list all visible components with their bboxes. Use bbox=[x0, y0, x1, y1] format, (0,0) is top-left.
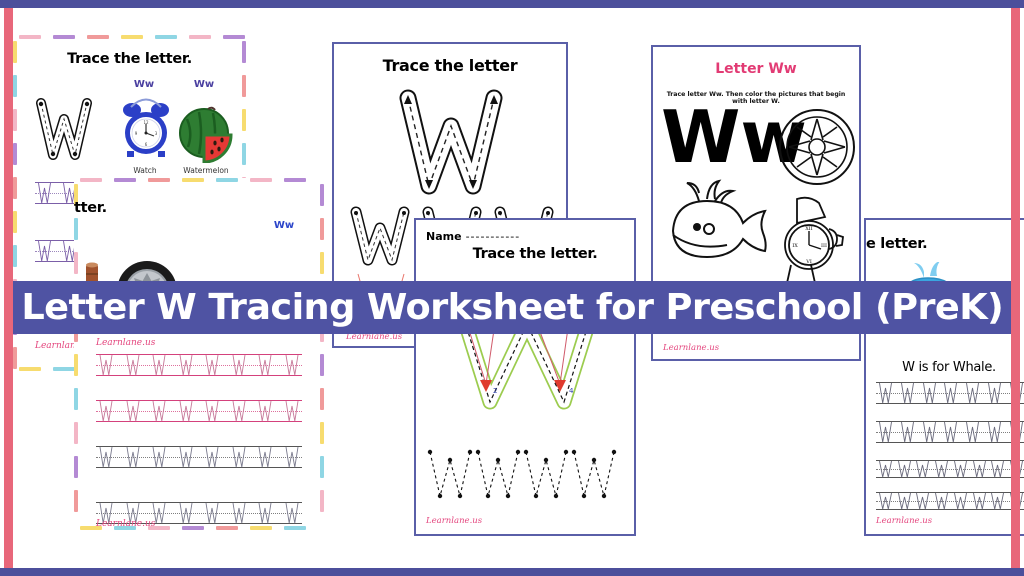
border-dash-segment bbox=[87, 35, 109, 39]
svg-text:6: 6 bbox=[145, 142, 148, 147]
border-dash-segment bbox=[13, 347, 17, 369]
border-dash-segment bbox=[13, 109, 17, 131]
border-dash-segment bbox=[189, 35, 211, 39]
border-dash-segment bbox=[242, 41, 246, 63]
border-dash-segment bbox=[242, 143, 246, 165]
border-dash-segment bbox=[284, 526, 306, 530]
frame-bar-left bbox=[4, 0, 13, 576]
worksheet-1-letter-label-1: Ww bbox=[121, 79, 167, 90]
border-dash-segment bbox=[13, 211, 17, 233]
border-dash-segment bbox=[13, 75, 17, 97]
border-dash-segment bbox=[320, 456, 324, 478]
border-dash-segment bbox=[250, 526, 272, 530]
tracing-row[interactable] bbox=[876, 460, 1024, 478]
border-dash-segment bbox=[155, 35, 177, 39]
name-field-label: Name bbox=[426, 230, 462, 243]
border-dash-segment bbox=[53, 35, 75, 39]
border-dash-segment bbox=[250, 178, 272, 182]
title-banner: Letter W Tracing Worksheet for Preschool… bbox=[13, 281, 1011, 334]
border-dash-segment bbox=[74, 422, 78, 444]
poster-canvas: Trace the letter. Ww Ww 123 bbox=[0, 0, 1024, 576]
border-dash-segment bbox=[320, 354, 324, 376]
border-dash-segment bbox=[148, 178, 170, 182]
worksheet-1-letter-label-2: Ww bbox=[181, 79, 227, 90]
border-dash-segment bbox=[74, 252, 78, 274]
border-dash-segment bbox=[182, 526, 204, 530]
worksheet-1-caption-2: Watermelon bbox=[173, 166, 239, 175]
page-title: Letter W Tracing Worksheet for Preschool… bbox=[21, 287, 1003, 328]
border-dash-segment bbox=[74, 354, 78, 376]
worksheet-2-letter-label-1: Ww bbox=[264, 220, 304, 231]
brand-watermark: Learnlane.us bbox=[426, 516, 482, 526]
worksheet-2-title: tter. bbox=[74, 200, 134, 216]
brand-watermark-ws2-bottom: Learnlane.us bbox=[96, 519, 155, 529]
svg-text:IX: IX bbox=[792, 243, 798, 249]
border-dash-segment bbox=[242, 109, 246, 131]
border-dash-segment bbox=[121, 35, 143, 39]
wheel-outline-icon[interactable] bbox=[777, 107, 857, 187]
worksheet-1-title: Trace the letter. bbox=[21, 51, 238, 67]
svg-text:III: III bbox=[821, 243, 827, 249]
frame-bar-right bbox=[1011, 0, 1020, 576]
border-dash-segment bbox=[114, 178, 136, 182]
traceable-letter-w-outline bbox=[35, 97, 93, 163]
worksheet-card-2[interactable]: tter. Ww Learnlane.us bbox=[74, 178, 324, 530]
worksheet-5-big-letter: Ww bbox=[661, 101, 775, 173]
worksheet-5-title: Letter Ww bbox=[657, 61, 855, 77]
border-dash-segment bbox=[182, 178, 204, 182]
frame-bar-top bbox=[0, 0, 1024, 8]
border-dash-segment bbox=[216, 526, 238, 530]
border-dash-segment bbox=[320, 252, 324, 274]
border-dash-segment bbox=[74, 490, 78, 512]
border-dash-segment bbox=[13, 177, 17, 199]
worksheet-card-6[interactable]: e letter. W is for Whale. bbox=[864, 218, 1024, 536]
traceable-letter-w-outline-large bbox=[396, 88, 506, 198]
border-dash-segment bbox=[320, 388, 324, 410]
tracing-row[interactable] bbox=[96, 446, 302, 468]
border-dash-segment bbox=[19, 35, 41, 39]
brand-watermark: Learnlane.us bbox=[876, 516, 932, 526]
border-dash-segment bbox=[74, 388, 78, 410]
border-dash-segment bbox=[19, 367, 41, 371]
name-field-dashes[interactable]: ----------- bbox=[466, 230, 521, 243]
border-dash-segment bbox=[320, 218, 324, 240]
border-dash-segment bbox=[284, 178, 306, 182]
border-dash-segment bbox=[242, 75, 246, 97]
svg-text:VI: VI bbox=[805, 259, 812, 265]
svg-text:XII: XII bbox=[805, 226, 813, 232]
border-dash-segment bbox=[223, 35, 245, 39]
border-dash-segment bbox=[13, 41, 17, 63]
tracing-row[interactable] bbox=[876, 421, 1024, 443]
border-dash-segment bbox=[74, 456, 78, 478]
practice-letter-w-1 bbox=[348, 206, 412, 268]
svg-text:9: 9 bbox=[135, 131, 138, 136]
worksheet-3-title: Trace the letter bbox=[340, 56, 560, 75]
alarm-clock-icon: 123 69 bbox=[121, 93, 171, 165]
worksheet-card-4[interactable]: Name ----------- Trace the letter. 12 34 bbox=[414, 218, 636, 536]
watch-outline-icon[interactable]: XIIIII VIIX bbox=[771, 193, 851, 289]
tracing-row[interactable] bbox=[96, 354, 302, 376]
tracing-row[interactable] bbox=[876, 382, 1024, 404]
svg-text:4: 4 bbox=[569, 387, 574, 395]
border-dash-segment bbox=[320, 490, 324, 512]
border-dash-segment bbox=[53, 367, 75, 371]
svg-text:2: 2 bbox=[493, 387, 497, 395]
frame-bar-bottom bbox=[0, 568, 1024, 576]
svg-text:12: 12 bbox=[143, 120, 149, 125]
border-dash-segment bbox=[216, 178, 238, 182]
watermelon-icon bbox=[179, 105, 234, 163]
border-dash-segment bbox=[13, 245, 17, 267]
border-dash-segment bbox=[13, 143, 17, 165]
tracing-row[interactable] bbox=[876, 492, 1024, 510]
border-dash-segment bbox=[320, 422, 324, 444]
dotted-w-practice-row[interactable] bbox=[426, 446, 630, 506]
brand-watermark: Learnlane.us bbox=[663, 343, 719, 353]
border-dash-segment bbox=[74, 218, 78, 240]
tracing-row[interactable] bbox=[96, 400, 302, 422]
border-dash-segment bbox=[320, 184, 324, 206]
border-dash-segment bbox=[80, 178, 102, 182]
svg-text:3: 3 bbox=[155, 131, 158, 136]
worksheet-6-title: e letter. bbox=[866, 236, 956, 252]
brand-watermark-top: Learnlane.us bbox=[96, 338, 155, 348]
worksheet-1-caption-1: Watch bbox=[119, 166, 171, 175]
worksheet-4-title: Trace the letter. bbox=[442, 246, 628, 262]
whale-outline-icon[interactable] bbox=[663, 179, 773, 265]
worksheet-6-subtitle: W is for Whale. bbox=[870, 360, 1024, 375]
